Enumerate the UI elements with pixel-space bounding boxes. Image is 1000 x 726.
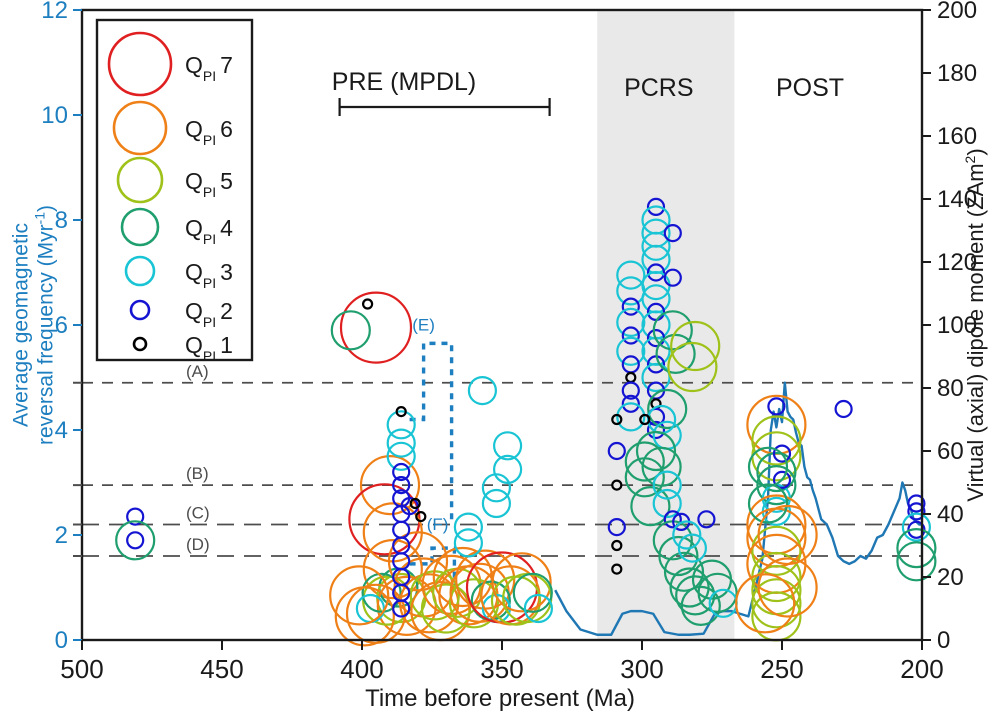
reference-line-label-d: (D) (186, 535, 210, 554)
right-axis-tick-label: 40 (937, 501, 964, 528)
legend-label-sub: PI (203, 184, 216, 200)
step-curve-label-e: (E) (412, 315, 435, 334)
interval-bracket-pre (340, 98, 550, 116)
legend-label-num: 5 (220, 168, 233, 194)
left-axis-tick-label: 2 (55, 522, 68, 549)
data-point-q4 (116, 521, 154, 559)
left-axis-title-line2: reversal frequency (Myr (35, 224, 58, 445)
legend-label-q: Q (185, 215, 203, 241)
right-axis-tick-label: 0 (937, 627, 950, 654)
legend-label-sub: PI (203, 314, 216, 330)
x-axis-title: Time before present (Ma) (365, 685, 635, 712)
legend-label-num: 2 (220, 298, 233, 324)
left-axis-title-sup: -1 (32, 212, 48, 225)
data-point-q6 (759, 559, 817, 617)
right-axis-tick-label: 180 (937, 60, 977, 87)
left-axis-tick-label: 12 (41, 0, 68, 24)
data-point-q7 (341, 293, 411, 363)
x-axis-tick-label: 350 (480, 654, 523, 684)
data-point-q3 (455, 529, 482, 556)
x-axis-tick-label: 500 (60, 654, 103, 684)
right-axis-tick-label: 60 (937, 438, 964, 465)
left-axis-title: Average geomagneticreversal frequency (M… (9, 205, 57, 445)
legend-label-sub: PI (203, 132, 216, 148)
left-axis-title-close: ) (35, 205, 58, 212)
right-axis-title-close: ) (963, 148, 988, 155)
reference-line-label-a: (A) (186, 362, 209, 381)
x-axis-tick-label: 400 (340, 654, 383, 684)
legend-label-num: 1 (220, 332, 233, 358)
right-axis-tick-label: 160 (937, 123, 977, 150)
legend-label-num: 7 (220, 52, 233, 78)
legend-label-q: Q (185, 116, 203, 142)
x-axis-tick-label: 200 (900, 654, 943, 684)
reversal-frequency-vadm-chart: (A)(B)(C)(D)(E)(F)0246810120204060801001… (0, 0, 1000, 726)
right-axis-tick-label: 80 (937, 375, 964, 402)
legend-label-q: Q (185, 259, 203, 285)
chart-figure: (A)(B)(C)(D)(E)(F)0246810120204060801001… (0, 0, 1000, 726)
step-curve-label-f: (F) (427, 515, 449, 534)
legend-label-num: 6 (220, 116, 233, 142)
interval-label-post: POST (776, 74, 844, 102)
legend-label-sub: PI (203, 231, 216, 247)
right-axis-title: Virtual (axial) dipole moment (ZAm2) (962, 148, 988, 501)
left-axis-tick-label: 10 (41, 102, 68, 129)
x-axis-tick-label: 250 (760, 654, 803, 684)
data-point-q2 (127, 532, 143, 548)
data-point-q3 (455, 514, 482, 541)
data-point-q4 (332, 311, 370, 349)
legend-label-num: 3 (220, 259, 233, 285)
legend-label-num: 4 (220, 215, 233, 241)
data-point-q3 (483, 490, 510, 517)
data-point-q2 (393, 522, 409, 538)
right-axis-title-main: Virtual (axial) dipole moment (ZAm (963, 163, 988, 501)
data-point-q3 (903, 514, 930, 541)
right-axis-tick-label: 20 (937, 564, 964, 591)
data-point-q1 (363, 300, 372, 309)
legend-label-q: Q (185, 298, 203, 324)
legend-label-sub: PI (203, 348, 216, 364)
reference-line-label-b: (B) (186, 464, 209, 483)
legend-label-sub: PI (203, 68, 216, 84)
legend-label-q: Q (185, 52, 203, 78)
reference-line-label-c: (C) (186, 504, 210, 523)
data-point-q2 (836, 401, 852, 417)
right-axis-tick-label: 200 (937, 0, 977, 24)
x-axis-tick-label: 450 (200, 654, 243, 684)
left-axis-tick-label: 0 (55, 627, 68, 654)
interval-label-pre: PRE (MPDL) (332, 68, 476, 96)
left-axis-title-line1: Average geomagnetic (9, 223, 32, 427)
step-curve-e (410, 343, 452, 519)
right-axis-title-sup: 2 (962, 155, 978, 163)
legend-label-q: Q (185, 332, 203, 358)
x-axis-tick-label: 300 (620, 654, 663, 684)
data-point-q3 (469, 377, 496, 404)
legend-label-q: Q (185, 168, 203, 194)
interval-label-pcrs: PCRS (624, 74, 693, 102)
legend-label-sub: PI (203, 275, 216, 291)
